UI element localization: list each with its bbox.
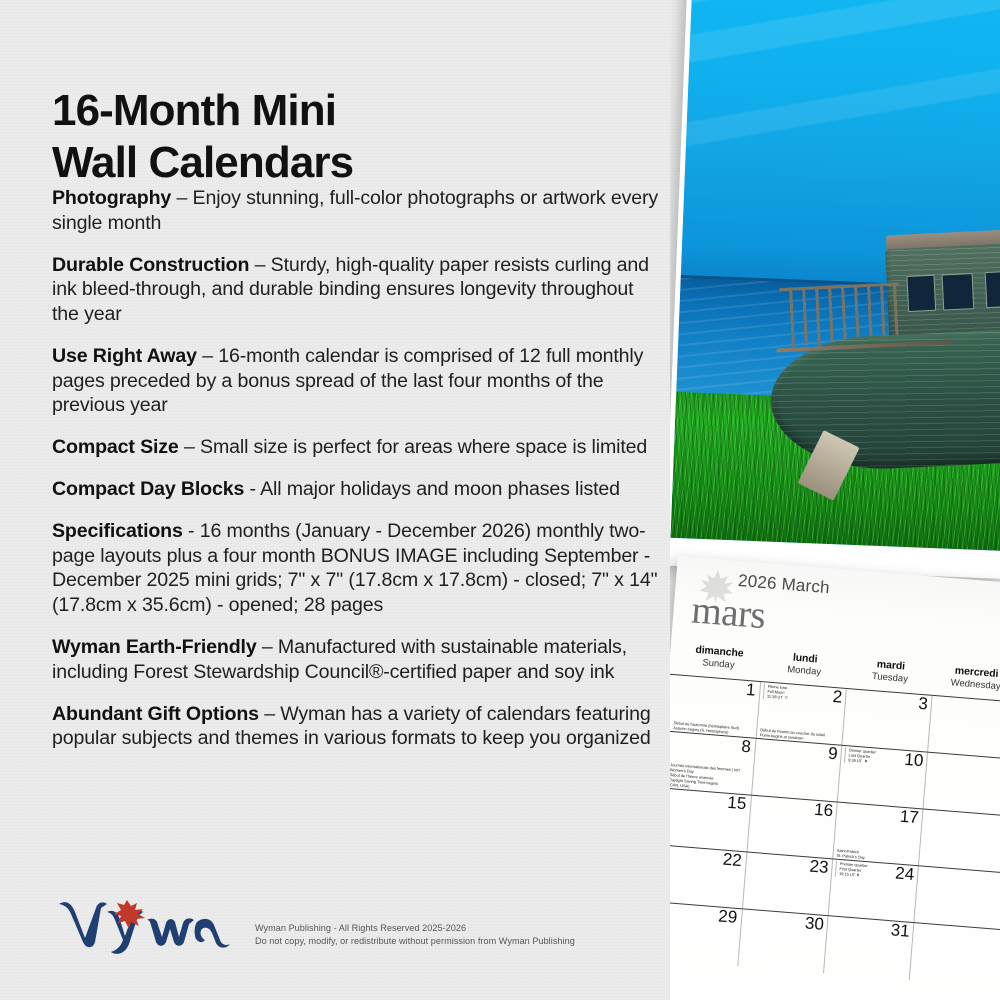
feature-item: Compact Size – Small size is perfect for…	[52, 435, 662, 460]
calendar-day-cell[interactable]: 17Saint-PatrickSt. Patrick's Day	[832, 803, 923, 867]
calendar-day-cell[interactable]	[909, 923, 1000, 987]
calendar-day-header: mardiTuesday	[847, 656, 935, 686]
boat-photograph	[671, 0, 1000, 551]
feature-text: Specifications - 16 months (January - De…	[52, 519, 662, 618]
feature-term: Wyman Earth-Friendly	[52, 636, 257, 658]
calendar-day-number: 23	[809, 857, 829, 878]
calendar-grid: 1Début de l'automne (hémisphère Sud)Autu…	[670, 674, 1000, 1000]
feature-text: Use Right Away – 16-month calendar is co…	[52, 344, 662, 418]
wyman-logo-svg	[55, 892, 235, 954]
footer: Wyman Publishing - All Rights Reserved 2…	[55, 892, 675, 962]
calendar-day-cell[interactable]: 8Journée internationale des femmes | Int…	[670, 732, 756, 796]
calendar-day-cell[interactable]: 2Début de Pourim au coucher du soleilPur…	[756, 682, 847, 746]
calendar-month-french: mars	[690, 587, 767, 638]
feature-item: Specifications - 16 months (January - De…	[52, 519, 662, 618]
moon-phase-icon: ◐	[855, 872, 861, 878]
calendar-grid-page: 2026 March mars dimancheSundaylundiMonda…	[670, 556, 1000, 1000]
calendar-day-number: 9	[827, 744, 838, 765]
feature-item: Abundant Gift Options – Wyman has a vari…	[52, 702, 662, 752]
product-photo: 2026 March mars dimancheSundaylundiMonda…	[670, 0, 1000, 1000]
calendar-day-number: 1	[745, 680, 756, 701]
calendar-day-header: mercrediWednesday	[932, 663, 1000, 693]
calendar-day-number: 31	[890, 920, 910, 941]
calendar-day-cell[interactable]	[922, 753, 1000, 817]
page-title-line2: Wall Calendars	[52, 137, 672, 188]
calendar-day-cell[interactable]	[918, 809, 1000, 873]
calendar-day-cell[interactable]: 16	[746, 796, 837, 860]
derelict-boat	[769, 233, 1000, 473]
calendar-day-number: 15	[727, 793, 747, 814]
calendar-day-cell[interactable]: 22	[670, 846, 746, 910]
moon-phase-icon: ◑	[862, 758, 868, 764]
feature-term: Durable Construction	[52, 254, 249, 276]
wyman-logo	[55, 892, 235, 954]
feature-text: Compact Size – Small size is perfect for…	[52, 435, 662, 460]
boat-window	[941, 274, 973, 312]
feature-text: Abundant Gift Options – Wyman has a vari…	[52, 702, 662, 752]
feature-item: Photography – Enjoy stunning, full-color…	[52, 186, 662, 236]
calendar-day-header: dimancheSunday	[675, 642, 763, 672]
copyright-line2: Do not copy, modify, or redistribute wit…	[255, 935, 685, 948]
page-title: 16-Month Mini Wall Calendars	[52, 85, 672, 188]
page-title-line1: 16-Month Mini	[52, 86, 336, 135]
feature-item: Use Right Away – 16-month calendar is co…	[52, 344, 662, 418]
calendar-day-number: 3	[918, 694, 929, 715]
calendar-day-number: 22	[722, 850, 742, 871]
calendar-day-cell[interactable]: 29	[670, 902, 742, 966]
calendar-day-number: 29	[718, 906, 738, 927]
feature-text: Durable Construction – Sturdy, high-qual…	[52, 253, 662, 327]
feature-text: Compact Day Blocks - All major holidays …	[52, 477, 662, 502]
feature-text: Wyman Earth-Friendly – Manufactured with…	[52, 635, 662, 685]
feature-term: Photography	[52, 187, 171, 209]
calendar-day-cell[interactable]: 1Début de l'automne (hémisphère Sud)Autu…	[670, 675, 760, 739]
calendar-day-header: lundiMonday	[761, 649, 849, 679]
calendar-day-cell[interactable]: 30	[737, 909, 828, 973]
feature-term: Abundant Gift Options	[52, 703, 259, 725]
calendar-day-cell[interactable]: 23	[742, 852, 833, 916]
calendar-day-cell[interactable]: 31	[823, 916, 914, 980]
feature-text: Photography – Enjoy stunning, full-color…	[52, 186, 662, 236]
calendar-day-cell[interactable]	[927, 696, 1000, 760]
moon-phase-label: Premier quartierFirst Quarter19:15 UT ◐	[835, 861, 900, 882]
calendar-day-cell[interactable]: 15	[670, 789, 751, 853]
calendar-day-cell[interactable]: 10Dernier quartierLast Quarter9:38 UT ◑	[837, 746, 928, 810]
feature-term: Use Right Away	[52, 345, 197, 367]
feature-item: Compact Day Blocks - All major holidays …	[52, 477, 662, 502]
calendar-photo-page	[670, 0, 1000, 579]
boat-window	[907, 274, 936, 312]
calendar-day-cell[interactable]: 9	[751, 739, 842, 803]
feature-item: Wyman Earth-Friendly – Manufactured with…	[52, 635, 662, 685]
copyright-line1: Wyman Publishing - All Rights Reserved 2…	[255, 922, 685, 935]
calendar-day-cell[interactable]	[913, 866, 1000, 930]
calendar-day-number: 16	[813, 800, 833, 821]
moon-phase-label: Pleine luneFull Moon11:38 UT ○	[763, 683, 828, 704]
moon-phase-label: Dernier quartierLast Quarter9:38 UT ◑	[844, 747, 909, 768]
calendar-day-cell[interactable]: 24Premier quartierFirst Quarter19:15 UT …	[828, 859, 919, 923]
calendar-day-cell[interactable]: 3	[841, 689, 932, 753]
calendar-day-number: 2	[832, 687, 843, 708]
boat-window	[984, 271, 1000, 309]
feature-list: Photography – Enjoy stunning, full-color…	[52, 186, 662, 768]
marketing-panel: 16-Month Mini Wall Calendars Photography…	[0, 0, 690, 1000]
calendar-day-number: 17	[899, 807, 919, 828]
moon-phase-icon: ○	[782, 695, 788, 701]
calendar-day-number: 8	[741, 737, 752, 758]
feature-term: Specifications	[52, 520, 183, 542]
calendar-day-number: 30	[804, 913, 824, 934]
feature-term: Compact Day Blocks	[52, 478, 244, 500]
feature-term: Compact Size	[52, 436, 179, 458]
copyright-notice: Wyman Publishing - All Rights Reserved 2…	[255, 922, 685, 948]
feature-item: Durable Construction – Sturdy, high-qual…	[52, 253, 662, 327]
